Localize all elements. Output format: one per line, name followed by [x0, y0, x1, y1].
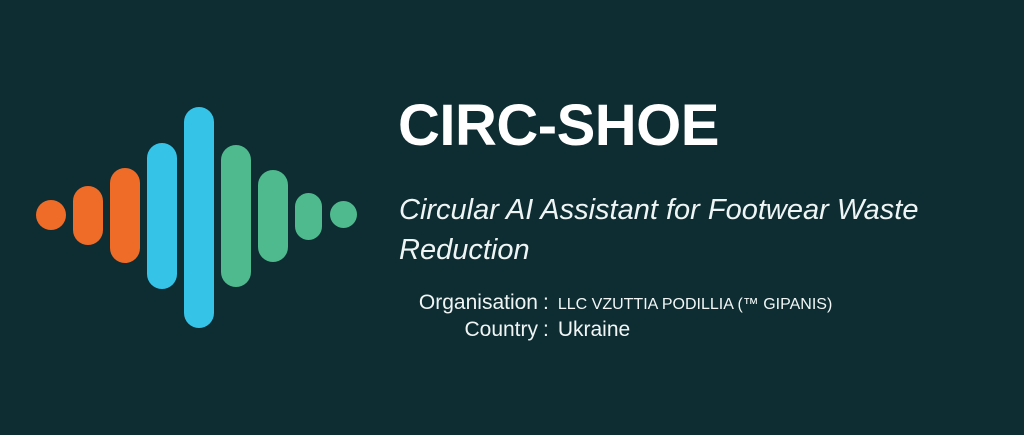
audio-waveform-logo — [0, 0, 380, 435]
wave-bar-2 — [73, 186, 103, 245]
metadata-list: Organisation : LLC VZUTTIA PODILLIA (™ G… — [398, 291, 868, 345]
metadata-row-organisation: Organisation : LLC VZUTTIA PODILLIA (™ G… — [398, 291, 868, 318]
wave-bar-7 — [258, 170, 288, 262]
organisation-label: Organisation — [398, 291, 538, 315]
organisation-value: LLC VZUTTIA PODILLIA (™ GIPANIS) — [549, 296, 832, 314]
country-separator: : — [538, 318, 549, 342]
wave-bar-6 — [221, 145, 251, 287]
wave-bar-8 — [295, 193, 322, 240]
country-value: Ukraine — [549, 318, 630, 342]
page-title: CIRC-SHOE — [398, 92, 719, 160]
wave-bar-3 — [110, 168, 140, 263]
project-banner-card: CIRC-SHOE Circular AI Assistant for Foot… — [0, 0, 1024, 435]
country-label: Country — [398, 318, 538, 342]
text-block: CIRC-SHOE Circular AI Assistant for Foot… — [398, 0, 1018, 435]
wave-bar-1 — [36, 200, 66, 230]
wave-bar-9 — [330, 201, 357, 228]
organisation-separator: : — [538, 291, 549, 315]
wave-bar-5 — [184, 107, 214, 328]
metadata-row-country: Country : Ukraine — [398, 318, 868, 345]
wave-bar-4 — [147, 143, 177, 289]
page-subtitle: Circular AI Assistant for Footwear Waste… — [399, 190, 919, 270]
